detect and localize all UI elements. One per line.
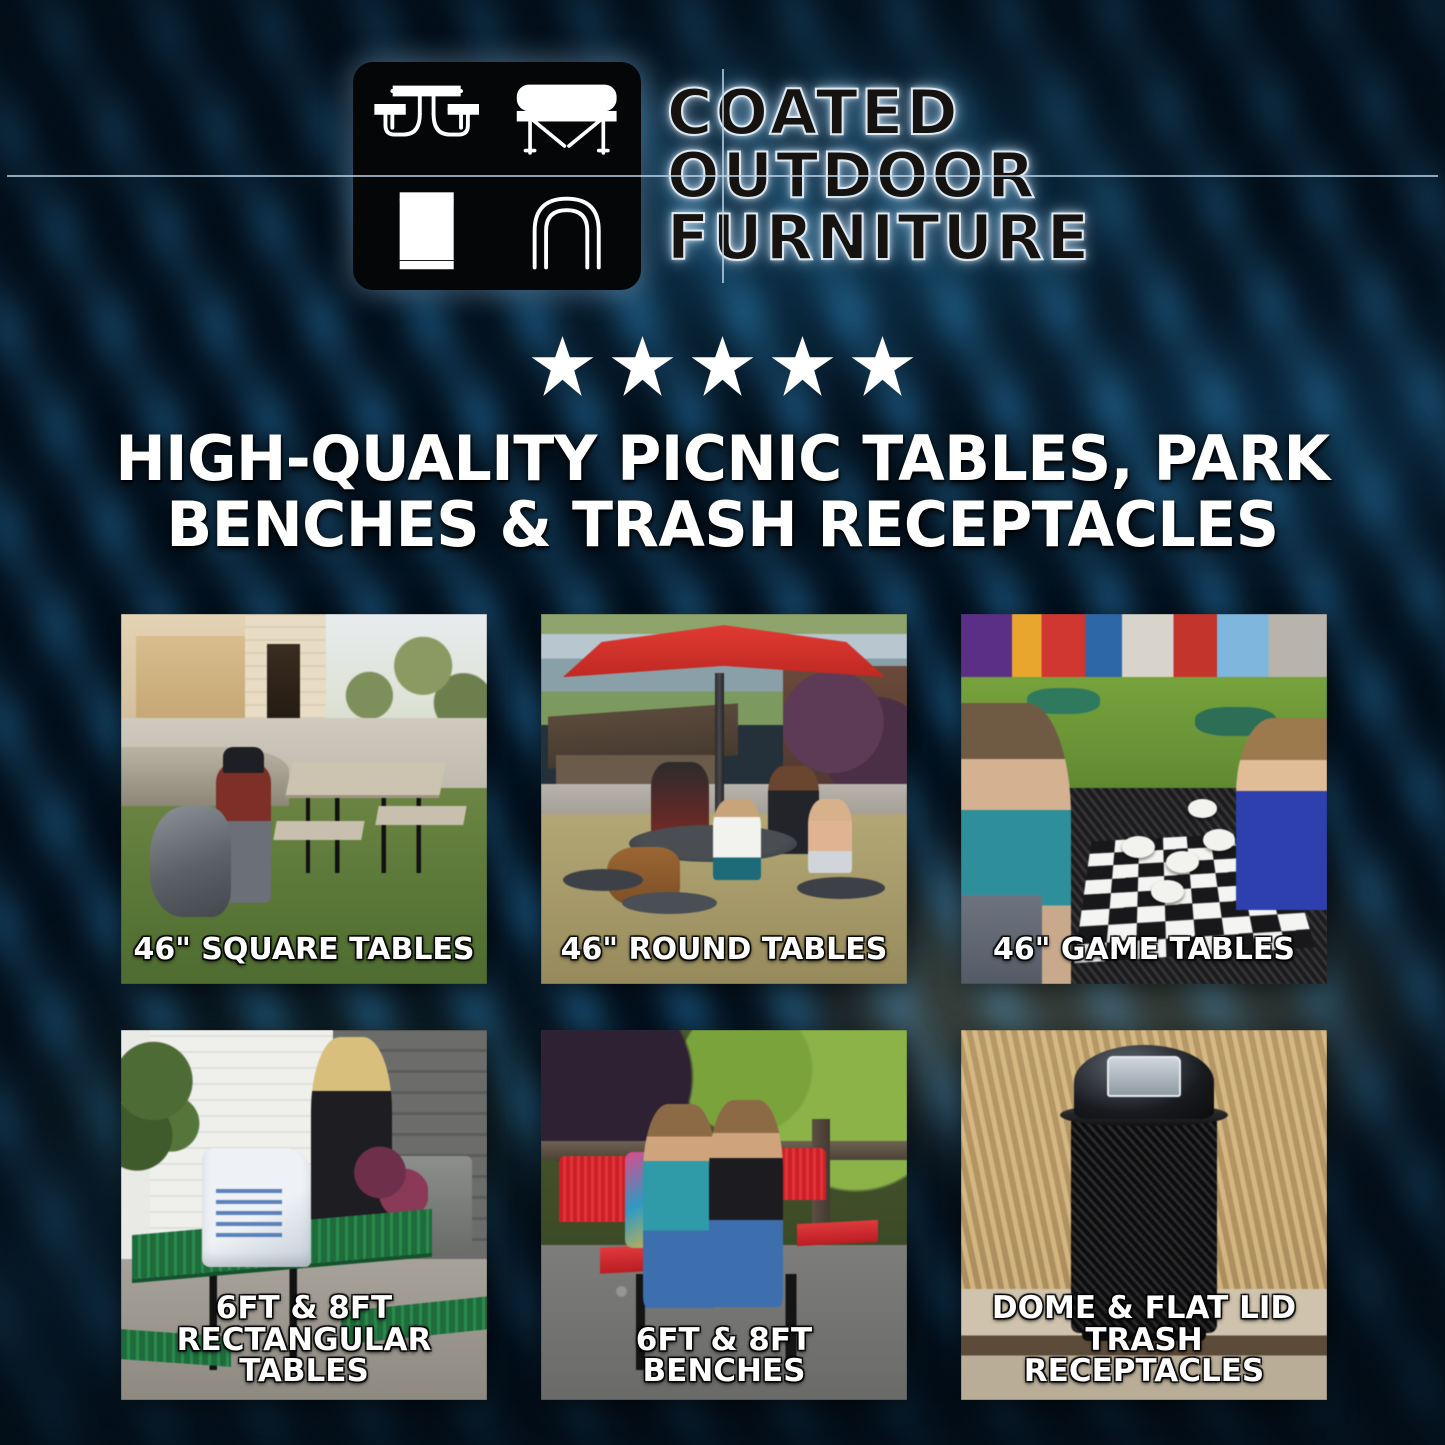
star-icon	[692, 336, 754, 396]
logo-icon-grid	[353, 62, 641, 290]
brand-logo: COATED OUTDOOR FURNITURE	[0, 62, 1445, 290]
category-tile-rectangular-tables[interactable]: 6FT & 8FT RECTANGULAR TABLES	[121, 1030, 487, 1400]
star-icon	[612, 336, 674, 396]
star-icon	[772, 336, 834, 396]
tile-caption: 46" SQUARE TABLES	[121, 935, 487, 966]
headline-line-2: BENCHES & TRASH RECEPTACLES	[80, 492, 1365, 558]
category-tile-round-tables[interactable]: 46" ROUND TABLES	[541, 614, 907, 984]
promo-page: COATED OUTDOOR FURNITURE HIGH-QUALITY PI…	[0, 0, 1445, 1445]
picnic-table-icon	[359, 68, 496, 175]
bike-rack-icon	[498, 178, 635, 285]
square-tables-photo	[121, 614, 487, 984]
tile-caption-line-1: 6FT & 8FT	[547, 1325, 901, 1357]
logo-grid-divider-horizontal	[7, 175, 1438, 177]
game-tables-photo	[961, 614, 1327, 984]
category-tile-square-tables[interactable]: 46" SQUARE TABLES	[121, 614, 487, 984]
tile-caption-line-1: 46" SQUARE TABLES	[127, 935, 481, 966]
star-icon	[532, 336, 594, 396]
tile-caption-line-2: BENCHES	[547, 1356, 901, 1388]
tile-caption-line-1: 46" ROUND TABLES	[547, 935, 901, 966]
category-tile-trash-receptacles[interactable]: DOME & FLAT LID TRASH RECEPTACLES	[961, 1030, 1327, 1400]
tile-caption-line-1: 46" GAME TABLES	[967, 935, 1321, 966]
wordmark-line-3: FURNITURE	[667, 208, 1092, 269]
star-icon	[852, 336, 914, 396]
tile-caption: 6FT & 8FT RECTANGULAR TABLES	[121, 1293, 487, 1388]
wordmark-line-1: COATED	[667, 83, 1092, 144]
headline-line-1: HIGH-QUALITY PICNIC TABLES, PARK	[80, 426, 1365, 492]
tile-caption-line-2: TRASH RECEPTACLES	[967, 1325, 1321, 1388]
trash-receptacle-icon	[359, 178, 496, 285]
round-tables-photo	[541, 614, 907, 984]
bench-icon	[498, 68, 635, 175]
tile-caption-line-1: 6FT & 8FT	[127, 1293, 481, 1325]
tile-caption: 46" GAME TABLES	[961, 935, 1327, 966]
category-tile-game-tables[interactable]: 46" GAME TABLES	[961, 614, 1327, 984]
page-headline: HIGH-QUALITY PICNIC TABLES, PARK BENCHES…	[80, 426, 1365, 557]
tile-caption: 6FT & 8FT BENCHES	[541, 1325, 907, 1388]
star-rating	[0, 336, 1445, 396]
category-tile-benches[interactable]: 6FT & 8FT BENCHES	[541, 1030, 907, 1400]
tile-caption: DOME & FLAT LID TRASH RECEPTACLES	[961, 1293, 1327, 1388]
tile-caption-line-2: RECTANGULAR TABLES	[127, 1325, 481, 1388]
tile-caption: 46" ROUND TABLES	[541, 935, 907, 966]
tile-caption-line-1: DOME & FLAT LID	[967, 1293, 1321, 1325]
product-category-grid: 46" SQUARE TABLES 46" ROUND TABLES	[121, 614, 1323, 1400]
